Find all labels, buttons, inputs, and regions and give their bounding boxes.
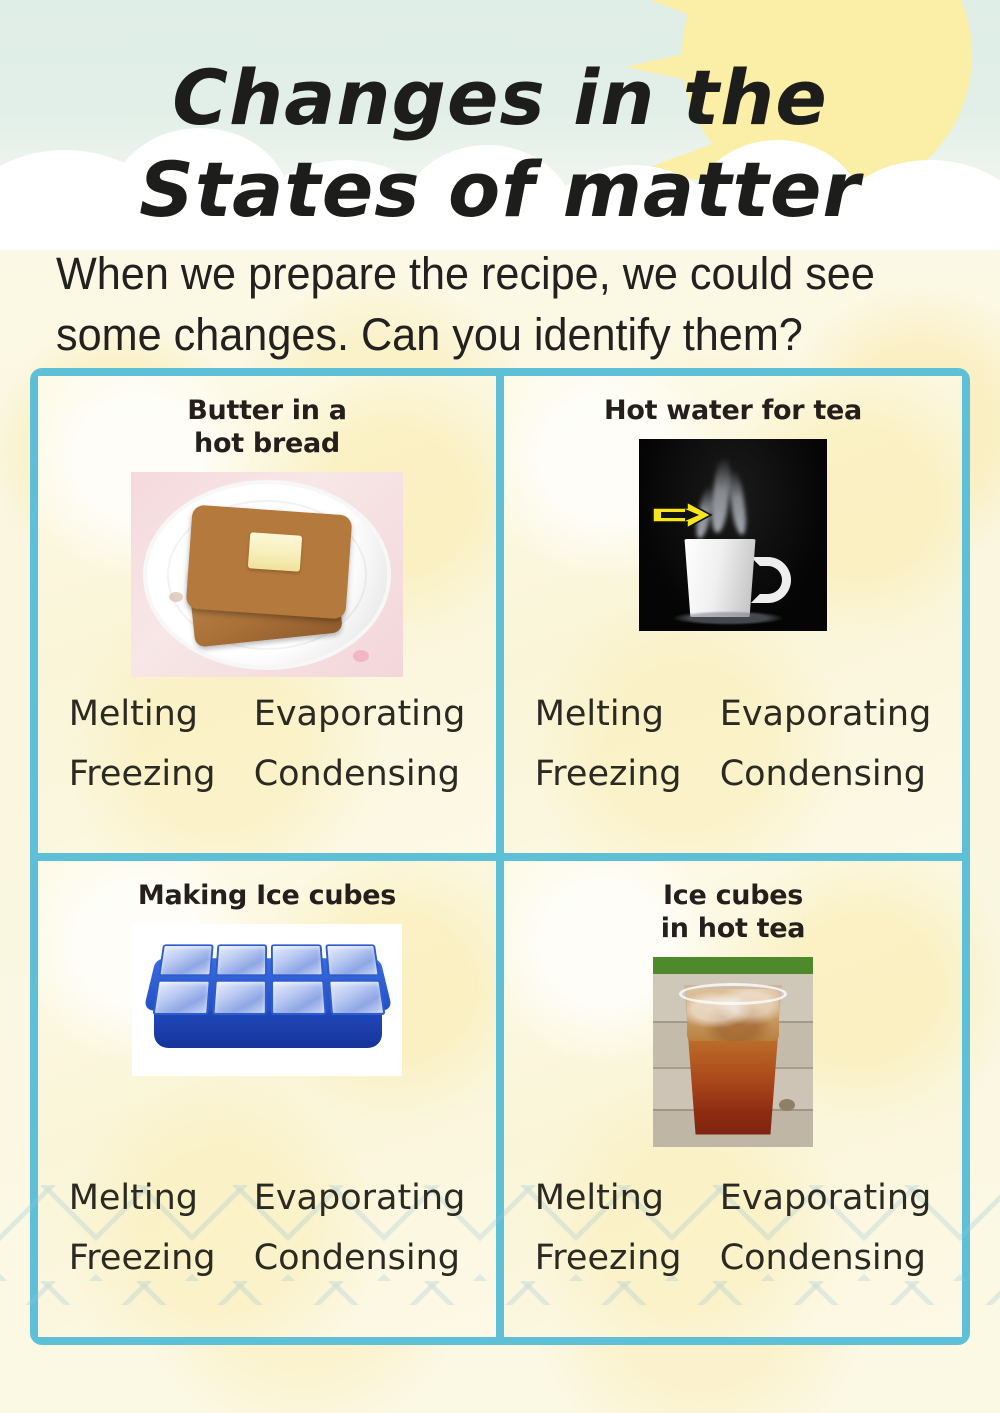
ice-cube bbox=[212, 979, 267, 1014]
iced-tea-plastic-cup-on-deck-photo bbox=[653, 957, 813, 1147]
options-group: Melting Evaporating Freezing Condensing bbox=[504, 695, 962, 853]
option-freezing[interactable]: Freezing bbox=[535, 755, 720, 793]
page-subtitle: When we prepare the recipe, we could see… bbox=[56, 243, 918, 365]
card-title: Ice cubes in hot tea bbox=[661, 879, 805, 945]
card-title: Butter in a hot bread bbox=[187, 394, 346, 460]
card-title: Making Ice cubes bbox=[138, 879, 396, 912]
option-evaporating[interactable]: Evaporating bbox=[254, 695, 466, 733]
ice-cube bbox=[152, 979, 210, 1014]
option-melting[interactable]: Melting bbox=[69, 695, 254, 733]
cup-rim bbox=[679, 983, 787, 1005]
option-melting[interactable]: Melting bbox=[535, 695, 720, 733]
option-freezing[interactable]: Freezing bbox=[535, 1239, 720, 1277]
ice-cube bbox=[328, 979, 386, 1014]
option-condensing[interactable]: Condensing bbox=[720, 755, 932, 793]
card-butter-hot-bread[interactable]: Butter in a hot bread Melting Evaporatin… bbox=[38, 376, 496, 853]
card-title: Hot water for tea bbox=[604, 394, 862, 427]
crumb bbox=[169, 592, 183, 602]
option-condensing[interactable]: Condensing bbox=[254, 755, 466, 793]
option-evaporating[interactable]: Evaporating bbox=[720, 695, 932, 733]
mug-shadow bbox=[673, 611, 783, 625]
blue-ice-cube-tray-photo bbox=[132, 924, 402, 1076]
options-group: Melting Evaporating Freezing Condensing bbox=[504, 1179, 962, 1337]
card-making-ice-cubes[interactable]: Making Ice cubes Melting Evaporating bbox=[38, 861, 496, 1338]
ice-cube bbox=[271, 979, 326, 1014]
mug-body bbox=[683, 539, 757, 617]
options-group: Melting Evaporating Freezing Condensing bbox=[38, 1179, 496, 1337]
card-hot-water-for-tea[interactable]: Hot water for tea Melting Evaporating Fr… bbox=[504, 376, 962, 853]
ice-cube bbox=[158, 944, 213, 976]
buttered-french-toast-on-plate-photo bbox=[131, 472, 403, 677]
worksheet-page: Changes in the States of matter When we … bbox=[0, 0, 1000, 1413]
option-condensing[interactable]: Condensing bbox=[254, 1239, 466, 1277]
steam-wisp bbox=[726, 468, 748, 535]
yellow-arrow-icon bbox=[651, 501, 713, 529]
mug-handle bbox=[751, 557, 791, 603]
page-title: Changes in the States of matter bbox=[0, 52, 1000, 236]
ice-cube-group bbox=[152, 944, 385, 1015]
option-freezing[interactable]: Freezing bbox=[69, 755, 254, 793]
crumb bbox=[353, 650, 369, 662]
card-ice-cubes-in-hot-tea[interactable]: Ice cubes in hot tea Melting Evaporating… bbox=[504, 861, 962, 1338]
option-melting[interactable]: Melting bbox=[69, 1179, 254, 1217]
option-condensing[interactable]: Condensing bbox=[720, 1239, 932, 1277]
ice-cube bbox=[325, 944, 380, 976]
steaming-white-mug-photo bbox=[639, 439, 827, 631]
option-freezing[interactable]: Freezing bbox=[69, 1239, 254, 1277]
option-evaporating[interactable]: Evaporating bbox=[254, 1179, 466, 1217]
ice-cube bbox=[271, 944, 323, 976]
options-group: Melting Evaporating Freezing Condensing bbox=[38, 695, 496, 853]
option-evaporating[interactable]: Evaporating bbox=[720, 1179, 932, 1217]
ice-cube bbox=[215, 944, 267, 976]
butter-pat bbox=[248, 532, 302, 572]
option-melting[interactable]: Melting bbox=[535, 1179, 720, 1217]
wood-knot bbox=[779, 1099, 795, 1111]
